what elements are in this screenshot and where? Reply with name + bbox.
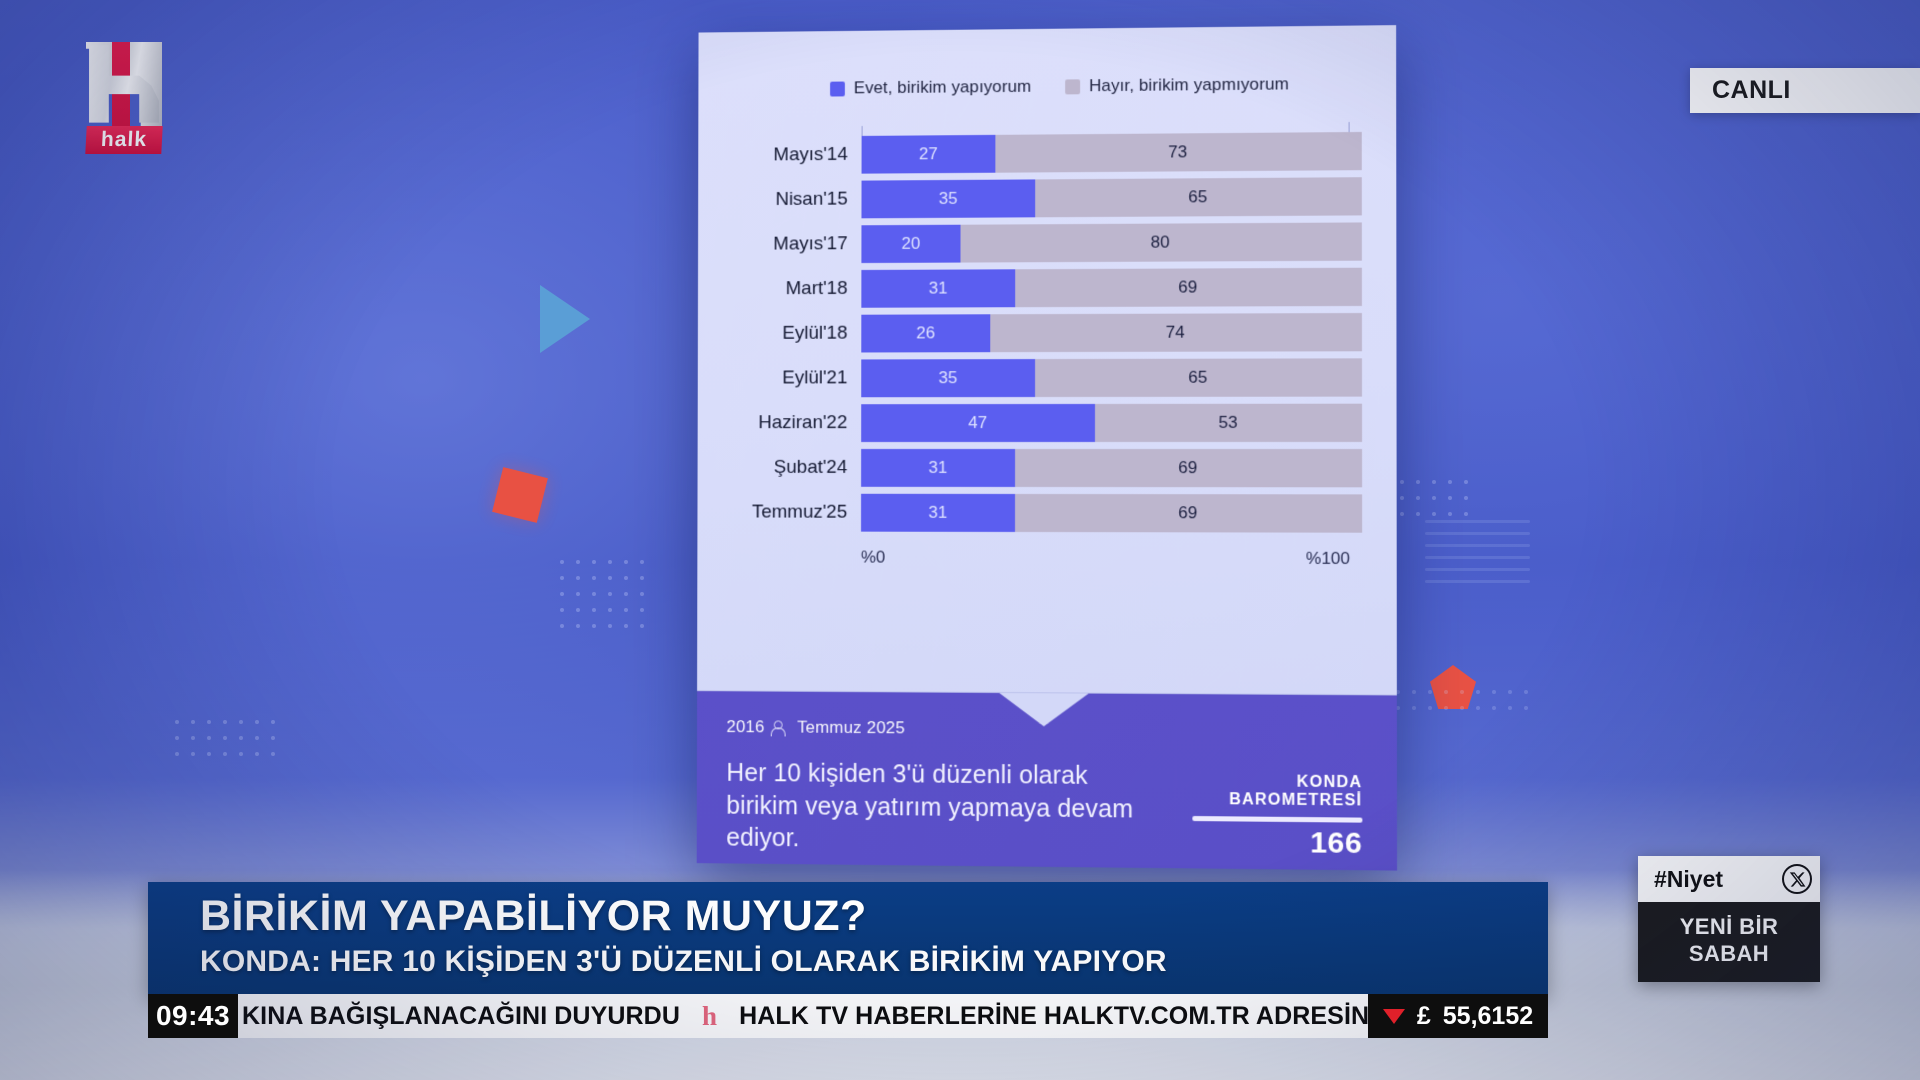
broadcast-stage: halk CANLI Evet, birikim yapıyorum Hayır… bbox=[0, 0, 1920, 1080]
chart-bar-no: 69 bbox=[1015, 494, 1362, 533]
chart-row: Eylül'182674 bbox=[731, 313, 1362, 353]
person-icon bbox=[770, 720, 783, 735]
line-grid-decoration bbox=[1425, 520, 1530, 592]
legend-label-yes: Evet, birikim yapıyorum bbox=[854, 77, 1031, 99]
chart-bar-yes: 31 bbox=[861, 449, 1015, 487]
chart-plot-area: Mayıs'142773Nisan'153565Mayıs'172080Mart… bbox=[731, 122, 1362, 569]
chart-row: Nisan'153565 bbox=[731, 177, 1361, 219]
chart-row-label: Nisan'15 bbox=[731, 189, 861, 212]
dot-grid-decoration bbox=[560, 560, 644, 628]
hashtag-text: #Niyet bbox=[1654, 866, 1723, 893]
dot-grid-decoration-right bbox=[1400, 480, 1468, 516]
chart-bar-no: 80 bbox=[960, 222, 1361, 262]
chart-row-label: Eylül'18 bbox=[731, 323, 861, 345]
chart-row-label: Haziran'22 bbox=[731, 412, 861, 434]
chart-bar-no: 53 bbox=[1095, 404, 1362, 442]
chart-bar-no: 65 bbox=[1035, 358, 1362, 397]
chart-bar-yes: 35 bbox=[861, 179, 1035, 218]
ticker-text-left: KINA BAĞIŞLANACAĞINI DUYURDU bbox=[242, 1002, 680, 1031]
chart-panel: Evet, birikim yapıyorum Hayır, birikim y… bbox=[697, 25, 1397, 695]
legend-item-no: Hayır, birikim yapmıyorum bbox=[1065, 74, 1289, 96]
currency-symbol: £ bbox=[1417, 1002, 1431, 1031]
ticker-clock: 09:43 bbox=[148, 994, 238, 1038]
square-decoration-icon bbox=[492, 467, 548, 523]
tick-right bbox=[1349, 122, 1350, 132]
legend-swatch-no-icon bbox=[1065, 79, 1080, 94]
source-number: 166 bbox=[1160, 825, 1362, 861]
legend-item-yes: Evet, birikim yapıyorum bbox=[830, 77, 1031, 99]
live-badge: CANLI bbox=[1690, 68, 1920, 113]
ticker-crawl: KINA BAĞIŞLANACAĞINI DUYURDU h HALK TV H… bbox=[238, 1001, 1548, 1032]
chart-bar-no: 73 bbox=[995, 132, 1361, 173]
currency-value: 55,6152 bbox=[1443, 1002, 1533, 1031]
chart-rows: Mayıs'142773Nisan'153565Mayıs'172080Mart… bbox=[731, 132, 1362, 533]
chart-row: Mart'183169 bbox=[731, 268, 1362, 308]
source-line2: BAROMETRESİ bbox=[1160, 791, 1362, 811]
chart-row-label: Şubat'24 bbox=[731, 457, 861, 479]
chart-bar-yes: 31 bbox=[861, 494, 1015, 532]
chart-bar-no: 69 bbox=[1015, 449, 1362, 487]
halk-h-icon: h bbox=[702, 1001, 717, 1032]
lower-third-banner: BİRİKİM YAPABİLİYOR MUYUZ? KONDA: HER 10… bbox=[148, 882, 1548, 998]
infographic-footer: 2016 Temmuz 2025 Her 10 kişiden 3'ü düze… bbox=[697, 691, 1397, 870]
source-logo: KONDA BAROMETRESİ 166 bbox=[1160, 772, 1362, 861]
chart-bar-yes: 26 bbox=[861, 314, 990, 352]
legend-label-no: Hayır, birikim yapmıyorum bbox=[1089, 74, 1289, 96]
source-divider bbox=[1192, 816, 1362, 823]
chart-row-bars: 4753 bbox=[861, 404, 1362, 442]
chart-bar-yes: 31 bbox=[861, 269, 1015, 307]
chart-bar-yes: 20 bbox=[861, 225, 960, 263]
chart-row: Temmuz'253169 bbox=[731, 494, 1362, 533]
footer-meta: 2016 Temmuz 2025 bbox=[726, 717, 1366, 742]
chart-row-bars: 2674 bbox=[861, 313, 1362, 352]
halk-h-mark-icon bbox=[86, 42, 162, 126]
chart-bar-yes: 47 bbox=[861, 404, 1095, 442]
chart-axis-labels: %0 %100 bbox=[861, 548, 1362, 569]
chart-row-bars: 3565 bbox=[861, 177, 1361, 218]
triangle-decoration-icon bbox=[540, 285, 590, 353]
show-badge: #Niyet YENİ BİR SABAH bbox=[1638, 856, 1820, 982]
axis-label-min: %0 bbox=[861, 548, 885, 568]
lower-third-headline: BİRİKİM YAPABİLİYOR MUYUZ? bbox=[200, 894, 1548, 939]
chart-bar-no: 69 bbox=[1015, 268, 1362, 307]
chart-row: Eylül'213565 bbox=[731, 358, 1362, 397]
chart-row-label: Mart'18 bbox=[731, 278, 861, 300]
program-name: YENİ BİR SABAH bbox=[1638, 902, 1820, 982]
chart-row-label: Mayıs'17 bbox=[731, 233, 861, 255]
chart-row: Mayıs'142773 bbox=[732, 132, 1362, 175]
chart-row-label: Mayıs'14 bbox=[732, 144, 862, 167]
chart-bar-no: 74 bbox=[990, 313, 1362, 352]
dot-grid-decoration-left bbox=[175, 720, 275, 756]
chart-bar-yes: 27 bbox=[862, 135, 996, 174]
chart-row-bars: 2080 bbox=[861, 222, 1361, 263]
dot-grid-decoration-lower bbox=[1380, 690, 1528, 710]
chart-row: Haziran'224753 bbox=[731, 404, 1362, 442]
source-line1: KONDA bbox=[1160, 772, 1362, 792]
chart-row-bars: 3169 bbox=[861, 449, 1362, 487]
channel-logo-wordmark: halk bbox=[85, 126, 162, 154]
x-twitter-icon[interactable] bbox=[1782, 864, 1812, 894]
chart-row: Şubat'243169 bbox=[731, 449, 1362, 487]
legend-swatch-yes-icon bbox=[830, 81, 845, 96]
tick-left bbox=[862, 126, 863, 136]
chart-row-bars: 2773 bbox=[862, 132, 1362, 174]
chart-row-bars: 3169 bbox=[861, 494, 1362, 533]
chart-bar-no: 65 bbox=[1035, 177, 1362, 217]
chart-row-bars: 3565 bbox=[861, 358, 1362, 397]
axis-label-max: %100 bbox=[1306, 549, 1350, 569]
chart-bar-yes: 35 bbox=[861, 359, 1035, 397]
news-ticker: 09:43 KINA BAĞIŞLANACAĞINI DUYURDU h HAL… bbox=[148, 994, 1548, 1038]
chart-row-label: Temmuz'25 bbox=[731, 502, 861, 524]
chart-row-label: Eylül'21 bbox=[731, 367, 861, 389]
channel-logo: halk bbox=[86, 42, 162, 152]
chart-row: Mayıs'172080 bbox=[731, 222, 1362, 263]
arrow-down-icon bbox=[1383, 1009, 1405, 1024]
currency-widget: £ 55,6152 bbox=[1368, 994, 1548, 1038]
footer-meta-date: Temmuz 2025 bbox=[797, 718, 905, 739]
infographic-card: Evet, birikim yapıyorum Hayır, birikim y… bbox=[697, 25, 1397, 870]
hashtag-bar: #Niyet bbox=[1638, 856, 1820, 902]
footer-summary-text: Her 10 kişiden 3'ü düzenli olarak biriki… bbox=[726, 757, 1144, 858]
lower-third-subline: KONDA: HER 10 KİŞİDEN 3'Ü DÜZENLİ OLARAK… bbox=[200, 945, 1548, 979]
chart-row-bars: 3169 bbox=[861, 268, 1362, 308]
footer-meta-count: 2016 bbox=[726, 717, 764, 737]
chart-legend: Evet, birikim yapıyorum Hayır, birikim y… bbox=[732, 56, 1362, 125]
